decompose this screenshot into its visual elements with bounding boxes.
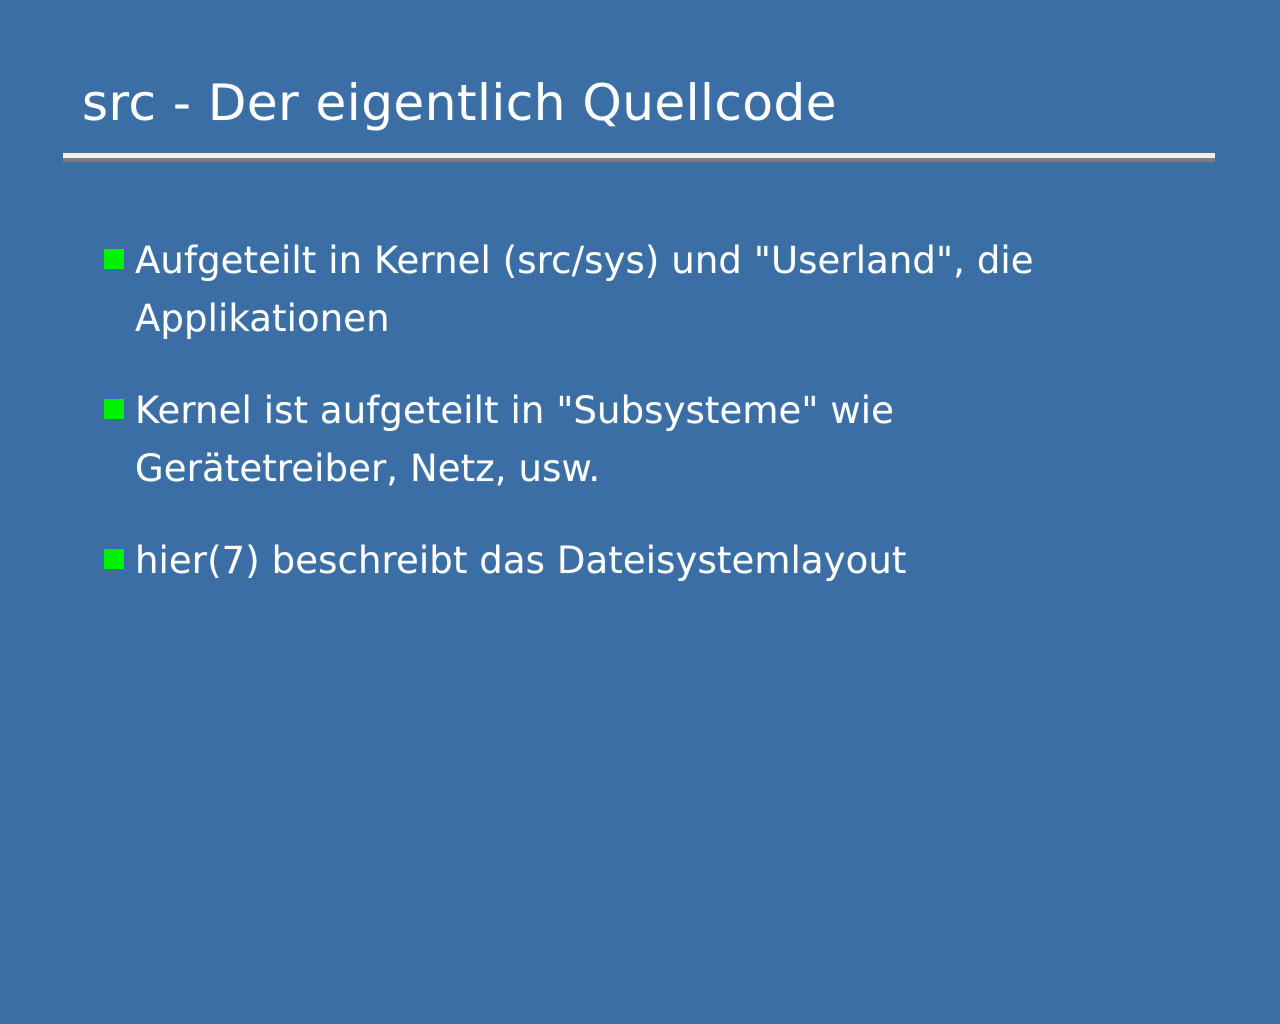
divider-dark-rule — [63, 158, 1215, 162]
page-title: src - Der eigentlich Quellcode — [63, 72, 1215, 134]
title-divider — [63, 153, 1215, 162]
list-item-label: hier(7) beschreibt das Dateisystemlayout — [135, 532, 1184, 590]
presentation-slide: src - Der eigentlich Quellcode Aufgeteil… — [0, 0, 1280, 1024]
slide-title-block: src - Der eigentlich Quellcode — [63, 72, 1215, 134]
square-bullet-icon — [104, 399, 124, 419]
list-item: Aufgeteilt in Kernel (src/sys) und "User… — [104, 232, 1184, 348]
list-item: Kernel ist aufgeteilt in "Subsysteme" wi… — [104, 382, 1184, 498]
list-item-label: Kernel ist aufgeteilt in "Subsysteme" wi… — [135, 382, 1135, 498]
square-bullet-icon — [104, 549, 124, 569]
bullet-list: Aufgeteilt in Kernel (src/sys) und "User… — [104, 232, 1184, 590]
square-bullet-icon — [104, 249, 124, 269]
list-item-label: Aufgeteilt in Kernel (src/sys) und "User… — [135, 232, 1135, 348]
list-item: hier(7) beschreibt das Dateisystemlayout — [104, 532, 1184, 590]
